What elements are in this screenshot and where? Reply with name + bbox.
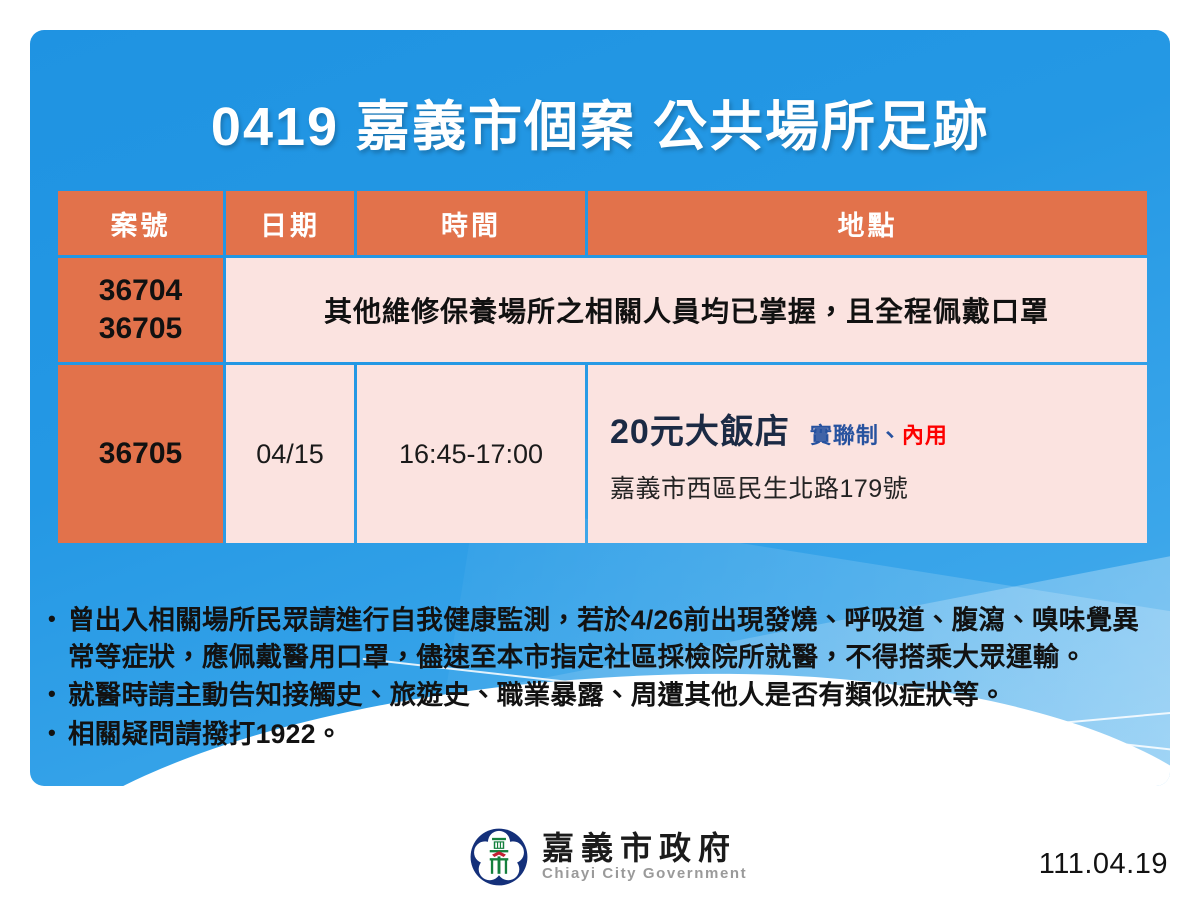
table-row: 36705 04/15 16:45-17:00 20元大飯店 實聯制、內用 嘉義… [58, 365, 1147, 543]
column-header-case-no: 案號 [58, 191, 223, 255]
table-header: 案號 日期 時間 地點 [58, 191, 1147, 255]
cell-place: 20元大飯店 實聯制、內用 嘉義市西區民生北路179號 [588, 365, 1147, 543]
logo-text: 嘉義市政府 Chiayi City Government [542, 832, 747, 882]
footer-date: 111.04.19 [1039, 848, 1168, 881]
logo-title-zh: 嘉義市政府 [542, 832, 747, 866]
logo-title-en: Chiayi City Government [542, 866, 747, 882]
column-header-date: 日期 [226, 191, 354, 255]
column-header-place: 地點 [588, 191, 1147, 255]
case-no-line: 36704 [58, 272, 223, 310]
note-text: 曾出入相關場所民眾請進行自我健康監測，若於4/26前出現發燒、呼吸道、腹瀉、嗅味… [68, 602, 1158, 675]
table-row: 36704 36705 其他維修保養場所之相關人員均已掌握，且全程佩戴口罩 [58, 258, 1147, 362]
note-text: 相關疑問請撥打1922。 [68, 716, 1158, 753]
column-header-time: 時間 [357, 191, 585, 255]
tag-separator: 、 [879, 423, 902, 448]
cell-case-no: 36704 36705 [58, 258, 223, 362]
note-text: 就醫時請主動告知接觸史、旅遊史、職業暴露、周遭其他人是否有類似症狀等。 [68, 677, 1158, 714]
cell-case-no: 36705 [58, 365, 223, 543]
cell-date: 04/15 [226, 365, 354, 543]
footprint-table: 案號 日期 時間 地點 36704 36705 其他維修保養場所之相關人員均已掌… [55, 188, 1150, 546]
list-item: • 曾出入相關場所民眾請進行自我健康監測，若於4/26前出現發燒、呼吸道、腹瀉、… [48, 602, 1158, 675]
bullet-icon: • [48, 602, 68, 635]
cell-time: 16:45-17:00 [357, 365, 585, 543]
case-no-line: 36705 [58, 310, 223, 348]
footer-logo: 嘉義市政府 Chiayi City Government [470, 828, 747, 886]
poster-root: 0419 嘉義市個案 公共場所足跡 案號 日期 時間 地點 36704 3670… [0, 0, 1200, 900]
page-title: 0419 嘉義市個案 公共場所足跡 [30, 82, 1170, 161]
venue-tags: 實聯制、內用 [810, 418, 948, 450]
chiayi-city-emblem-icon [470, 828, 528, 886]
list-item: • 就醫時請主動告知接觸史、旅遊史、職業暴露、周遭其他人是否有類似症狀等。 [48, 677, 1158, 714]
bullet-icon: • [48, 716, 68, 749]
tag-contact-registration: 實聯制 [810, 423, 879, 448]
cell-note: 其他維修保養場所之相關人員均已掌握，且全程佩戴口罩 [226, 258, 1147, 362]
venue-heading: 20元大飯店 實聯制、內用 [610, 404, 1147, 453]
table-header-row: 案號 日期 時間 地點 [58, 191, 1147, 255]
venue-address: 嘉義市西區民生北路179號 [610, 469, 1147, 505]
tag-dine-in: 內用 [902, 423, 948, 448]
table-body: 36704 36705 其他維修保養場所之相關人員均已掌握，且全程佩戴口罩 36… [58, 258, 1147, 543]
list-item: • 相關疑問請撥打1922。 [48, 716, 1158, 753]
bullet-icon: • [48, 677, 68, 710]
venue-name: 20元大飯店 [610, 404, 790, 453]
notes-list: • 曾出入相關場所民眾請進行自我健康監測，若於4/26前出現發燒、呼吸道、腹瀉、… [48, 602, 1158, 754]
